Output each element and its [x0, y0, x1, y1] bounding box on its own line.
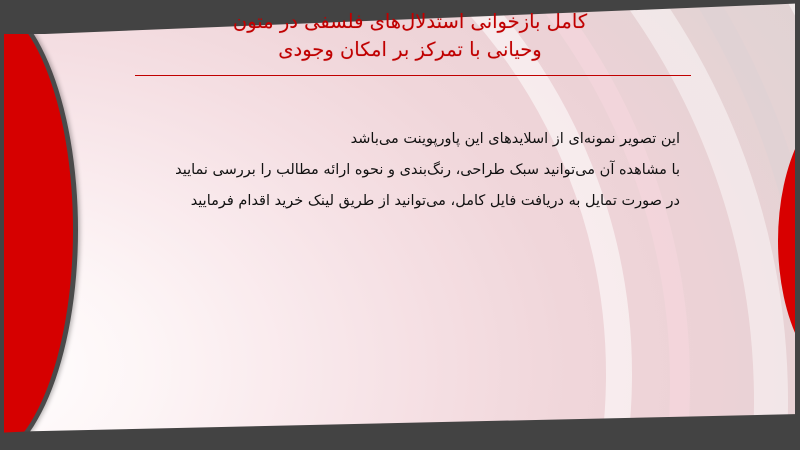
- slide-body-text: این تصویر نمونه‌ای از اسلایدهای این پاور…: [120, 124, 680, 217]
- slide-title-line-2: وحیانی با تمرکز بر امکان وجودی: [120, 36, 700, 64]
- body-line-1: این تصویر نمونه‌ای از اسلایدهای این پاور…: [120, 124, 680, 155]
- body-line-2: با مشاهده آن می‌توانید سبک طراحی، رنگ‌بن…: [120, 155, 680, 186]
- left-dark-edge: [0, 0, 4, 450]
- bg-arc-9: [0, 0, 800, 450]
- title-underline-rule: [135, 75, 691, 76]
- right-dark-edge: [795, 0, 800, 450]
- slide-title: کامل بازخوانی استدلال‌های فلسفی در متون …: [120, 8, 700, 64]
- slide-title-line-1: کامل بازخوانی استدلال‌های فلسفی در متون: [120, 8, 700, 36]
- presentation-slide: کامل بازخوانی استدلال‌های فلسفی در متون …: [0, 0, 800, 450]
- slide-background-panel: [0, 0, 800, 450]
- body-line-3: در صورت تمایل به دریافت فایل کامل، می‌تو…: [120, 186, 680, 217]
- background-arc-pattern: [0, 0, 800, 450]
